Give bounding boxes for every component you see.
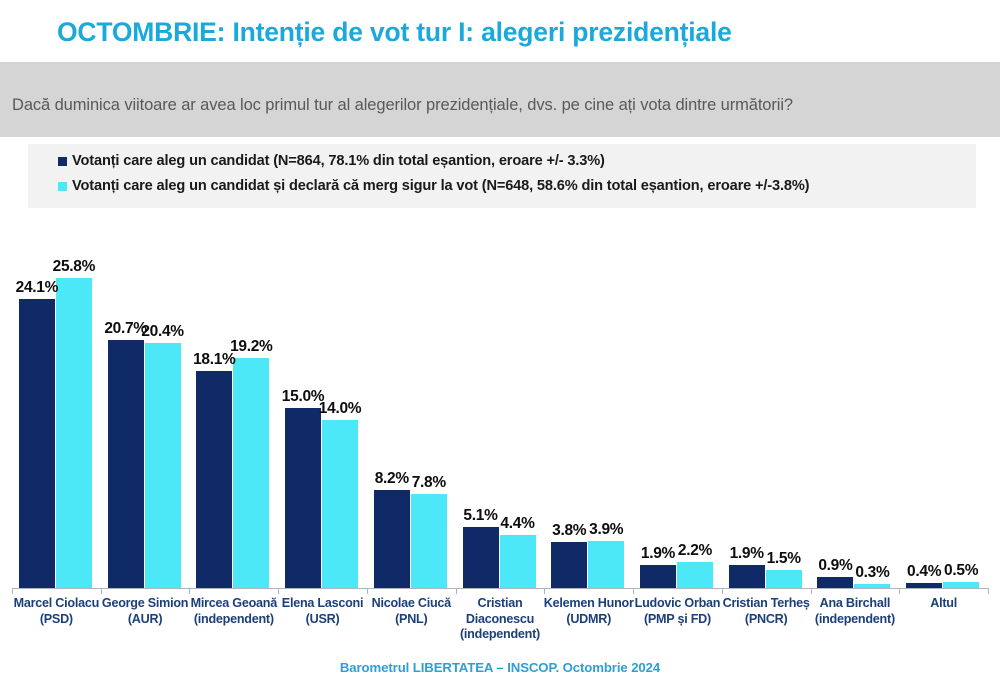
category-label-line: Elena Lasconi bbox=[272, 596, 373, 612]
bar-value-series-b: 1.5% bbox=[758, 550, 810, 568]
axis-tick bbox=[633, 588, 634, 594]
bar-series-a[interactable] bbox=[551, 542, 587, 588]
category-label: Elena Lasconi(USR) bbox=[272, 596, 373, 627]
bar-series-b[interactable] bbox=[233, 358, 269, 588]
bar-group: 15.0%14.0% bbox=[285, 220, 358, 588]
bar-series-a[interactable] bbox=[19, 299, 55, 588]
category-label-line: (USR) bbox=[272, 612, 373, 628]
source-footnote: Barometrul LIBERTATEA – INSCOP. Octombri… bbox=[0, 660, 1000, 675]
bar-group: 1.9%1.5% bbox=[729, 220, 802, 588]
category-label: Ludovic Orban(PMP și FD) bbox=[627, 596, 728, 627]
axis-tick-end bbox=[988, 588, 989, 594]
category-label-line: Diaconescu bbox=[450, 612, 551, 628]
bar-value-series-b: 4.4% bbox=[492, 515, 544, 533]
bar-value-series-b: 3.9% bbox=[580, 521, 632, 539]
poll-question: Dacă duminica viitoare ar avea loc primu… bbox=[12, 96, 988, 115]
category-label-line: Kelemen Hunor bbox=[538, 596, 639, 612]
axis-tick bbox=[811, 588, 812, 594]
bar-value-series-b: 20.4% bbox=[137, 323, 189, 341]
category-label-line: (PMP și FD) bbox=[627, 612, 728, 628]
bar-group: 18.1%19.2% bbox=[196, 220, 269, 588]
bar-group: 24.1%25.8% bbox=[19, 220, 92, 588]
bar-group: 3.8%3.9% bbox=[551, 220, 624, 588]
bar-series-b[interactable] bbox=[56, 278, 92, 588]
category-label: Kelemen Hunor(UDMR) bbox=[538, 596, 639, 627]
bar-series-a[interactable] bbox=[640, 565, 676, 588]
bar-value-series-b: 7.8% bbox=[403, 474, 455, 492]
legend-label-series-a: Votanți care aleg un candidat (N=864, 78… bbox=[72, 153, 605, 169]
bar-chart-plot: 24.1%25.8%20.7%20.4%18.1%19.2%15.0%14.0%… bbox=[0, 215, 1000, 593]
bar-group: 20.7%20.4% bbox=[108, 220, 181, 588]
bar-value-series-b: 0.3% bbox=[846, 564, 898, 582]
bar-group: 0.9%0.3% bbox=[817, 220, 890, 588]
category-label-line: Ana Birchall bbox=[805, 596, 906, 612]
bar-series-b[interactable] bbox=[322, 420, 358, 588]
legend-swatch-series-b bbox=[58, 182, 67, 191]
category-label-line: Cristian bbox=[450, 596, 551, 612]
bar-series-a[interactable] bbox=[196, 371, 232, 588]
category-label-line: Ludovic Orban bbox=[627, 596, 728, 612]
category-label-line: Marcel Ciolacu bbox=[6, 596, 107, 612]
category-label-line: (independent) bbox=[183, 612, 284, 628]
axis-tick bbox=[722, 588, 723, 594]
bar-series-a[interactable] bbox=[463, 527, 499, 588]
bar-value-series-b: 19.2% bbox=[225, 338, 277, 356]
legend-item-series-a[interactable]: Votanți care aleg un candidat (N=864, 78… bbox=[58, 153, 605, 169]
category-label-line: (PSD) bbox=[6, 612, 107, 628]
category-label: Ana Birchall(independent) bbox=[805, 596, 906, 627]
axis-tick bbox=[544, 588, 545, 594]
category-label-line: (independent) bbox=[450, 627, 551, 643]
bar-series-a[interactable] bbox=[374, 490, 410, 588]
bar-group: 0.4%0.5% bbox=[906, 220, 979, 588]
category-label-line: Mircea Geoană bbox=[183, 596, 284, 612]
category-label: Nicolae Ciucă(PNL) bbox=[361, 596, 462, 627]
category-label-line: Altul bbox=[893, 596, 994, 612]
category-label: CristianDiaconescu(independent) bbox=[450, 596, 551, 643]
legend: Votanți care aleg un candidat (N=864, 78… bbox=[28, 144, 976, 208]
axis-tick bbox=[899, 588, 900, 594]
bar-group: 1.9%2.2% bbox=[640, 220, 713, 588]
axis-tick bbox=[189, 588, 190, 594]
category-label: Altul bbox=[893, 596, 994, 612]
category-label-line: George Simion bbox=[95, 596, 196, 612]
category-label-line: (independent) bbox=[805, 612, 906, 628]
legend-item-series-b[interactable]: Votanți care aleg un candidat și declară… bbox=[58, 178, 809, 194]
category-label: Marcel Ciolacu(PSD) bbox=[6, 596, 107, 627]
category-label-line: (PNCR) bbox=[716, 612, 817, 628]
category-label: George Simion(AUR) bbox=[95, 596, 196, 627]
bar-series-a[interactable] bbox=[906, 583, 942, 588]
bar-series-b[interactable] bbox=[677, 562, 713, 588]
category-label-line: (PNL) bbox=[361, 612, 462, 628]
x-axis-line bbox=[12, 588, 988, 589]
bar-series-b[interactable] bbox=[588, 541, 624, 588]
axis-tick bbox=[278, 588, 279, 594]
category-label-line: (AUR) bbox=[95, 612, 196, 628]
category-label-line: (UDMR) bbox=[538, 612, 639, 628]
bar-value-series-b: 2.2% bbox=[669, 542, 721, 560]
legend-swatch-series-a bbox=[58, 157, 67, 166]
axis-tick bbox=[367, 588, 368, 594]
bar-series-b[interactable] bbox=[766, 570, 802, 588]
category-label-line: Cristian Terheș bbox=[716, 596, 817, 612]
category-label-line: Nicolae Ciucă bbox=[361, 596, 462, 612]
bar-group: 5.1%4.4% bbox=[463, 220, 536, 588]
bar-series-b[interactable] bbox=[943, 582, 979, 588]
bar-series-a[interactable] bbox=[285, 408, 321, 588]
category-axis-labels: Marcel Ciolacu(PSD)George Simion(AUR)Mir… bbox=[0, 596, 1000, 652]
bar-series-a[interactable] bbox=[729, 565, 765, 588]
bar-series-b[interactable] bbox=[500, 535, 536, 588]
category-label: Cristian Terheș(PNCR) bbox=[716, 596, 817, 627]
bar-value-series-a: 24.1% bbox=[11, 279, 63, 297]
bar-value-series-b: 14.0% bbox=[314, 400, 366, 418]
bar-value-series-b: 0.5% bbox=[935, 562, 987, 580]
bar-group: 8.2%7.8% bbox=[374, 220, 447, 588]
category-label: Mircea Geoană(independent) bbox=[183, 596, 284, 627]
axis-tick bbox=[456, 588, 457, 594]
title-bar: OCTOMBRIE: Intenție de vot tur I: aleger… bbox=[0, 0, 1000, 62]
bar-series-b[interactable] bbox=[145, 343, 181, 588]
page-title: OCTOMBRIE: Intenție de vot tur I: aleger… bbox=[57, 17, 732, 48]
legend-label-series-b: Votanți care aleg un candidat și declară… bbox=[72, 178, 809, 194]
bar-series-a[interactable] bbox=[108, 340, 144, 588]
axis-tick-end bbox=[12, 588, 13, 594]
bar-series-b[interactable] bbox=[411, 494, 447, 588]
axis-tick bbox=[101, 588, 102, 594]
bar-series-b[interactable] bbox=[854, 584, 890, 588]
bar-value-series-b: 25.8% bbox=[48, 258, 100, 276]
